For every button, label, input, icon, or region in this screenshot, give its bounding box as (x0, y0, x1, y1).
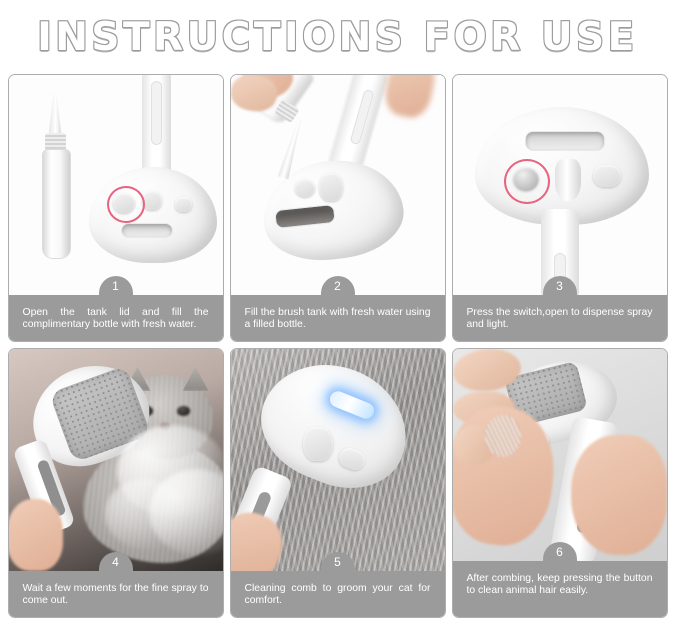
step-image-3: 3 (453, 75, 667, 295)
water-level-window (525, 131, 605, 151)
water-mist (105, 479, 185, 549)
step-card-5: 5 Cleaning comb to groom your cat for co… (230, 348, 446, 618)
step-caption-3: Press the switch,open to dispense spray … (453, 295, 667, 341)
step-caption-2: Fill the brush tank with fresh water usi… (231, 295, 445, 341)
step-image-1: 1 (9, 75, 223, 295)
step-caption-6: After combing, keep pressing the button … (453, 561, 667, 617)
step-caption-1: Open the tank lid and fill the complimen… (9, 295, 223, 341)
scene-closeup-switch-highlight (453, 75, 667, 295)
collected-hair-tuft (485, 415, 521, 457)
water-level-window (121, 223, 173, 238)
step-image-4: 4 (9, 349, 223, 571)
hand-right-grip (571, 435, 667, 555)
side-button[interactable] (175, 197, 192, 212)
step-card-1: 1 Open the tank lid and fill the complim… (8, 74, 224, 342)
handle-slot (151, 81, 162, 145)
scene-brush-on-cat-fur-led-on (231, 349, 445, 571)
step-card-6: 6 After combing, keep pressing the butto… (452, 348, 668, 618)
highlight-ring-tank-lid (107, 186, 145, 223)
tank-opening[interactable] (295, 179, 315, 197)
step-card-2: 2 Fill the brush tank with fresh water u… (230, 74, 446, 342)
step-image-5: 5 (231, 349, 445, 571)
scene-hand-filling-tank (231, 75, 445, 295)
step-image-2: 2 (231, 75, 445, 295)
scene-hands-cleaning-hair-from-bristles (453, 349, 667, 561)
nozzle-knob[interactable] (142, 191, 162, 210)
page-title: INSTRUCTIONS FOR USE (37, 15, 638, 60)
scene-brush-spraying-mist-at-cat (9, 349, 223, 571)
header: INSTRUCTIONS FOR USE (0, 0, 675, 74)
highlight-ring-switch (504, 159, 550, 204)
spray-nozzle (555, 159, 581, 201)
step-image-6: 6 (453, 349, 667, 561)
steps-grid: 1 Open the tank lid and fill the complim… (8, 74, 668, 618)
side-button[interactable] (593, 165, 621, 187)
nozzle-knob[interactable] (319, 173, 343, 201)
cat-eye-right (177, 406, 190, 416)
scene-bottle-and-device-base (9, 75, 223, 295)
hand-holding-brush (9, 499, 63, 571)
step-card-3: 3 Press the switch,open to dispense spra… (452, 74, 668, 342)
step-caption-5: Cleaning comb to groom your cat for comf… (231, 571, 445, 617)
bottle-body-icon (42, 149, 71, 259)
step-caption-4: Wait a few moments for the fine spray to… (9, 571, 223, 617)
step-card-4: 4 Wait a few moments for the fine spray … (8, 348, 224, 618)
nozzle-knob[interactable] (303, 427, 333, 461)
